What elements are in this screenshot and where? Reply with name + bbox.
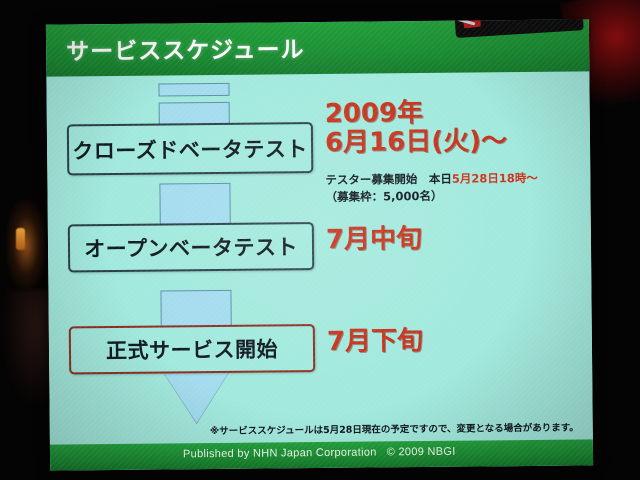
photo-of-projection-screen: サービススケジュール スタジアム ™ クローズドベータテスト 2009年 xyxy=(0,0,640,480)
room-amber-light-source xyxy=(16,228,25,250)
stage-box-open-beta[interactable]: オープンベータテスト xyxy=(68,222,314,272)
tester-recruitment-lead: テスター募集開始 本日 xyxy=(325,172,452,187)
publisher-text: Published by NHN Japan Corporation xyxy=(183,446,377,460)
room-amber-light-glow xyxy=(6,200,46,290)
tester-recruitment-note: テスター募集開始 本日5月28日18時〜 （募集枠：5,000名） xyxy=(325,170,538,205)
presentation-slide: サービススケジュール スタジアム ™ クローズドベータテスト 2009年 xyxy=(46,19,593,470)
tester-recruitment-time: 5月28日18時〜 xyxy=(452,171,538,186)
schedule-disclaimer: ※サービススケジュールは5月28日現在の予定ですので、変更となる場合があります。 xyxy=(210,420,579,438)
tester-recruitment-capacity: （募集枠：5,000名） xyxy=(325,187,538,206)
stage-box-label: 正式サービス開始 xyxy=(106,333,278,365)
tester-recruitment-line1: テスター募集開始 本日5月28日18時〜 xyxy=(325,170,538,189)
game-logo: スタジアム ™ xyxy=(455,19,583,34)
date-closed-beta-line1: 2009年 xyxy=(325,98,507,129)
date-closed-beta-line2: 6月16日(火)〜 xyxy=(325,127,507,158)
stage-box-official-launch[interactable]: 正式サービス開始 xyxy=(69,324,315,374)
slide-body: クローズドベータテスト 2009年 6月16日(火)〜 テスター募集開始 本日5… xyxy=(46,71,593,444)
flow-arrow-segment-top xyxy=(158,83,229,97)
stage-box-closed-beta[interactable]: クローズドベータテスト xyxy=(67,122,313,175)
date-official-launch-line1: 7月下旬 xyxy=(327,327,423,357)
slide-footer-bar: Published by NHN Japan Corporation © 200… xyxy=(50,439,593,470)
stage-box-label: オープンベータテスト xyxy=(84,231,298,263)
date-open-beta-line1: 7月中旬 xyxy=(326,225,422,255)
date-closed-beta: 2009年 6月16日(火)〜 xyxy=(325,98,508,158)
copyright-text: © 2009 NBGI xyxy=(387,446,456,459)
date-open-beta: 7月中旬 xyxy=(326,225,422,255)
stage-box-label: クローズドベータテスト xyxy=(72,133,308,165)
footer-credits: Published by NHN Japan Corporation © 200… xyxy=(183,446,456,461)
page-title: サービススケジュール xyxy=(66,30,305,66)
flow-arrow-head xyxy=(160,367,233,424)
date-official-launch: 7月下旬 xyxy=(327,327,423,357)
